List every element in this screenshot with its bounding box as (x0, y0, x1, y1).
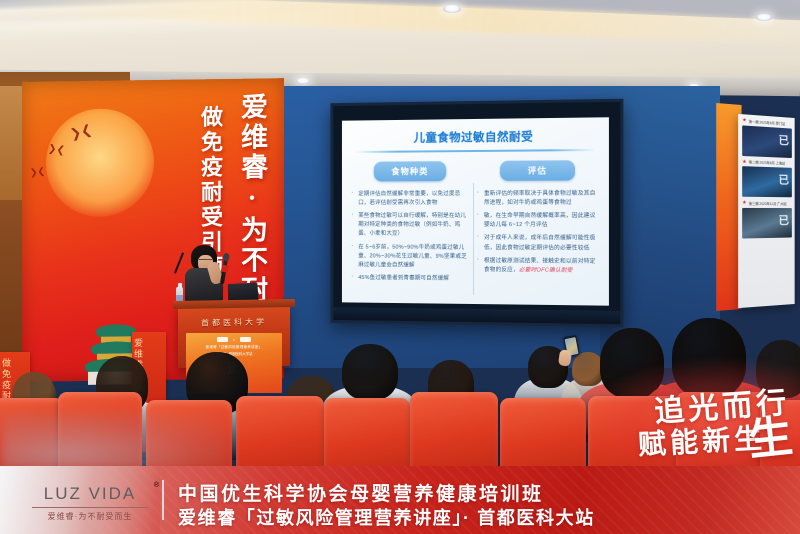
bullet-list-left: 定期评估自然缓解非常重要，以免过度忌口，若评估耐受需再次引入食物 某些食物过敏可… (352, 190, 469, 285)
timeline-label: 第一期 2023年5月 厦门站 (749, 118, 785, 125)
ceiling-light (296, 78, 310, 84)
registered-mark-icon: ® (154, 482, 159, 489)
bullet-list-right: 重新评估的频率取决于具体食物过敏及其自然进程，如对牛奶或鸡蛋等食物过 敏，在生命… (477, 189, 599, 276)
timeline-row: ★ 第三期 2023年11月 广州站 已 (738, 197, 795, 238)
podium-top-edge (173, 299, 295, 309)
bar-title-line-1: 中国优生科学协会母婴营养健康培训班 (178, 479, 544, 506)
list-item: 在 5~6岁前，50%~90%牛奶或鸡蛋过敏儿童、20%~30%花生过敏儿童、9… (352, 243, 469, 271)
timeline-row: ★ 第一期 2023年5月 厦门站 已 (738, 114, 795, 158)
logo-tagline: 爱维睿·为不耐受而生 (30, 511, 150, 522)
slide-title: 儿童食物过敏自然耐受 (342, 127, 609, 146)
bar-title-line-2: 爱维睿「过敏风险管理营养讲座」· 首都医科大站 (178, 504, 595, 530)
list-item: 对于成年人来说，成年后自然缓解可能性极低，因此食物过敏定期评估的必要性较低 (477, 234, 599, 253)
column-header-chip: 评估 (500, 160, 575, 181)
ceiling-light (443, 5, 461, 13)
screen-bottom-bezel (333, 307, 620, 324)
timeline-row: ★ 第二期 2023年8月 上海站 已 (738, 155, 795, 197)
timeline-label: 第二期 2023年8月 上海站 (749, 159, 785, 165)
timeline-board: ★ 第一期 2023年5月 厦门站 已 ★ 第二期 2023年8月 上海站 已 … (738, 114, 795, 308)
star-icon: ★ (742, 159, 747, 165)
sun-graphic (46, 108, 154, 218)
timeline-label: 第三期 2023年11月 广州站 (749, 200, 787, 205)
list-item: 敏，在生命早期自然缓解概率高，因此建议婴幼儿每 6~12 个月评估 (477, 212, 599, 231)
partner-logo-1 (217, 337, 228, 342)
star-icon: ★ (742, 200, 747, 206)
logo-x-separator: × (233, 337, 235, 342)
audience-head (342, 344, 398, 400)
list-item: 某些食物过敏可以自行缓解，特别是在幼儿期对特定种类的食物过敏（例如牛奶、鸡蛋、小… (352, 212, 469, 240)
list-item: 重新评估的频率取决于具体食物过敏及其自然进程，如对牛奶或鸡蛋等食物过 (477, 189, 599, 208)
screenshot-root: ❯❮ ❯❮ ❯❮ 爱维睿·为不耐受而 做免疫耐受引领者 爱维睿·为不耐受而生 做… (0, 0, 800, 534)
list-item: 根据过敏原测试结果、接触史和以前对特定食物的反应，必要时OFC确认耐受 (477, 257, 599, 276)
ceiling-light (756, 14, 772, 21)
projection-screen: 儿童食物过敏自然耐受 食物种类 定期评估自然缓解非常重要，以免过度忌口，若评估耐… (330, 99, 623, 328)
timeline-photo: 已 (742, 166, 792, 197)
logo-divider (32, 507, 148, 508)
vertical-separator (162, 480, 164, 520)
presentation-slide: 儿童食物过敏自然耐受 食物种类 定期评估自然缓解非常重要，以免过度忌口，若评估耐… (342, 117, 609, 305)
brand-logo: LUZ VIDA® 爱维睿·为不耐受而生 (30, 484, 150, 522)
bird-icon: ❯❮ (30, 167, 46, 178)
slide-column-food-types: 食物种类 定期评估自然缓解非常重要，以免过度忌口，若评估耐受需再次引入食物 某些… (352, 161, 469, 289)
bottom-title-bar: LUZ VIDA® 爱维睿·为不耐受而生 中国优生科学协会母婴营养健康培训班 爱… (0, 466, 800, 534)
highlight-text: 必要时OFC确认耐受 (519, 267, 573, 273)
slide-columns: 食物种类 定期评估自然缓解非常重要，以免过度忌口，若评估耐受需再次引入食物 某些… (342, 160, 609, 290)
timeline-photo: 已 (742, 125, 792, 158)
timeline-photo: 已 (742, 207, 792, 238)
timeline-date-char: 已 (779, 211, 789, 227)
timeline-date-char: 已 (779, 131, 789, 147)
column-header-chip: 食物种类 (374, 161, 446, 181)
list-item: 45%鱼过敏患者到青春期可自然缓解 (352, 274, 469, 284)
poster-logo-row: × (186, 337, 282, 342)
foreground-blur (0, 412, 230, 472)
poster-line-1: 爱维睿「过敏风险管理营养讲座」 (186, 345, 282, 350)
slide-column-assessment: 评估 重新评估的频率取决于具体食物过敏及其自然进程，如对牛奶或鸡蛋等食物过 敏，… (477, 160, 599, 290)
bird-icon: ❯❮ (47, 144, 65, 156)
partner-logo-2 (240, 337, 251, 342)
slide-column-divider (473, 183, 474, 295)
star-icon: ★ (742, 117, 747, 123)
slide-title-rule (355, 149, 594, 153)
timeline-date-char: 已 (779, 171, 789, 187)
logo-wordmark: LUZ VIDA (44, 484, 137, 504)
podium-venue-text: 首都医科大学 (178, 316, 290, 329)
list-item: 定期评估自然缓解非常重要，以免过度忌口，若评估耐受需再次引入食物 (352, 190, 469, 209)
